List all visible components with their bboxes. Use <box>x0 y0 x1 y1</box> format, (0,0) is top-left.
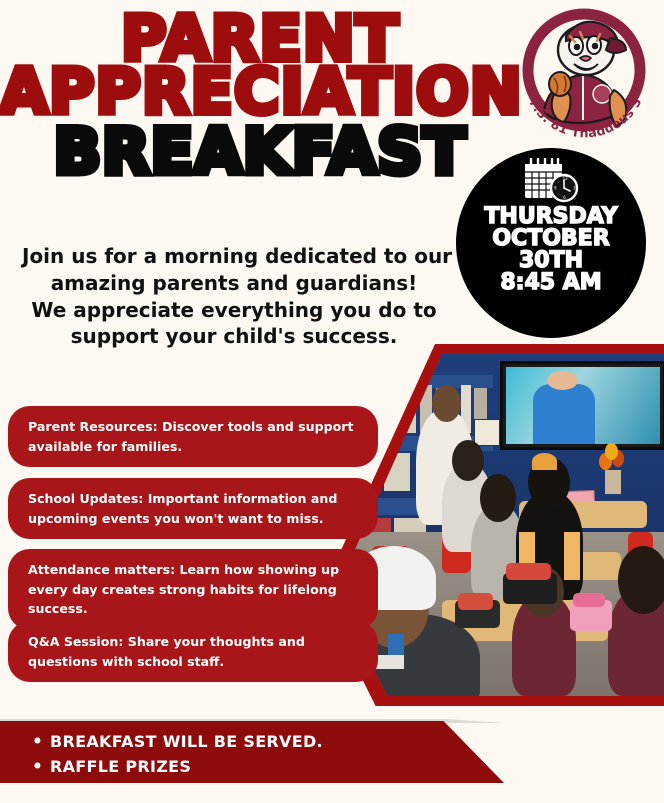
bottom-banner: BREAKFAST WILL BE SERVED. RAFFLE PRIZES <box>0 721 504 783</box>
info-pill-attendance: Attendance matters: Learn how showing up… <box>8 549 378 630</box>
school-logo: P.S. 81 Thaddeus Stevens <box>514 8 654 158</box>
date-day: THURSDAY <box>484 206 617 228</box>
date-badge: 12 3 6 9 THURSDAY OCTOBER 30TH 8:45 AM <box>456 148 646 338</box>
info-pill-school-updates: School Updates: Important information an… <box>8 478 378 539</box>
intro-line-1: Join us for a morning dedicated to our <box>22 243 446 270</box>
intro-line-3: We appreciate everything you do to <box>22 297 446 324</box>
banner-item-raffle: RAFFLE PRIZES <box>30 755 504 780</box>
calendar-clock-icon: 12 3 6 9 <box>520 158 582 204</box>
title-line-breakfast: BREAKFAST <box>0 123 520 182</box>
intro-paragraph: Join us for a morning dedicated to our a… <box>22 243 446 350</box>
date-time: 8:45 AM <box>500 272 601 294</box>
photo-image <box>346 354 664 696</box>
intro-line-2: amazing parents and guardians! <box>22 270 446 297</box>
banner-item-breakfast: BREAKFAST WILL BE SERVED. <box>30 730 504 755</box>
flyer-canvas: PARENT APPRECIATION BREAKFAST <box>0 0 664 803</box>
banner-list: BREAKFAST WILL BE SERVED. RAFFLE PRIZES <box>30 730 504 780</box>
flyer-title: PARENT APPRECIATION BREAKFAST <box>0 12 520 182</box>
classroom-photo <box>336 344 664 706</box>
info-pill-parent-resources: Parent Resources: Discover tools and sup… <box>8 406 378 467</box>
tiger-mascot-icon: P.S. 81 Thaddeus Stevens <box>514 8 654 158</box>
intro-line-4: support your child's success. <box>22 323 446 350</box>
info-pill-qa-session: Q&A Session: Share your thoughts and que… <box>8 621 378 682</box>
title-line-appreciation: APPRECIATION <box>0 65 520 118</box>
svg-text:12: 12 <box>563 176 569 181</box>
date-daynum: 30TH <box>519 250 583 272</box>
date-month: OCTOBER <box>492 228 609 250</box>
